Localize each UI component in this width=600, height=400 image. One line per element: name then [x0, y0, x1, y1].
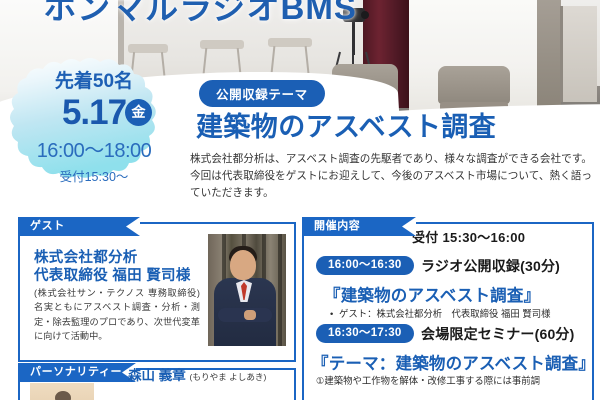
schedule-bullet-text-0: ゲスト：株式会社都分析 代表取締役 福田 賢司様	[339, 308, 550, 319]
schedule-time-1: 16:30〜17:30	[316, 324, 414, 343]
event-info-blob: 先着50名 5.17 金 16:00〜18:00 受付15:30〜	[8, 56, 180, 184]
schedule-title-1: 『テーマ：建築物のアスベスト調査』	[312, 350, 592, 374]
lead-paragraph: 株式会社都分析は、アスベスト調査の先駆者であり、様々な調査ができる会社です。今回…	[190, 151, 592, 202]
guest-panel: 株式会社都分析 代表取締役 福田 賢司様 (株式会社サン・テクノス 専務取締役)…	[18, 222, 296, 362]
personality-ribbon-label: パーソナリティー	[18, 363, 136, 382]
schedule-panel: 受付 15:30〜16:00 16:00〜16:30 ラジオ公開収録(30分) …	[302, 222, 594, 400]
schedule-bullet-0: •ゲスト：株式会社都分析 代表取締役 福田 賢司様	[330, 306, 550, 320]
guest-name: 代表取締役 福田 賢司様	[34, 264, 191, 285]
hero-right-frame	[560, 6, 597, 102]
bullet-dot-icon: •	[330, 308, 339, 319]
guest-ribbon-label: ゲスト	[18, 217, 140, 236]
schedule-time-0: 16:00〜16:30	[316, 256, 414, 275]
guest-portrait-photo	[208, 234, 286, 346]
hero-right-wall	[537, 0, 561, 110]
capacity-text: 先着50名	[8, 66, 180, 93]
personality-name-text: 森山 義章	[128, 368, 186, 383]
theme-headline: 建築物のアスベスト調査	[196, 105, 496, 144]
event-date: 5.17	[62, 93, 126, 132]
page-title: ホンマルラジオBMS	[0, 0, 400, 29]
personality-name-kana: (もりやま よしあき)	[190, 372, 267, 382]
schedule-label-0: ラジオ公開収録(30分)	[421, 256, 560, 276]
schedule-ribbon-label: 開催内容	[302, 217, 416, 236]
personality-portrait-photo	[30, 383, 94, 400]
schedule-title-0: 『建築物のアスベスト調査』	[324, 282, 540, 306]
reception-time: 受付15:30〜	[8, 166, 180, 185]
event-time: 16:00〜18:00	[8, 134, 180, 163]
day-of-week-badge: 金	[125, 99, 152, 126]
personality-name: 森山 義章 (もりやま よしあき)	[128, 364, 266, 384]
guest-description: (株式会社サン・テクノス 専務取締役) 名実ともにアスベスト調査・分析・測定・除…	[34, 286, 200, 343]
poster-canvas: ホンマルラジオBMS 先着50名 5.17 金 16:00〜18:00 受付15…	[0, 0, 600, 400]
theme-badge: 公開収録テーマ	[199, 80, 325, 107]
schedule-reception: 受付 15:30〜16:00	[412, 227, 525, 246]
schedule-label-1: 会場限定セミナー(60分)	[421, 324, 575, 344]
schedule-note-1: ①建築物や工作物を解体・改修工事する際には事前調	[316, 374, 584, 389]
